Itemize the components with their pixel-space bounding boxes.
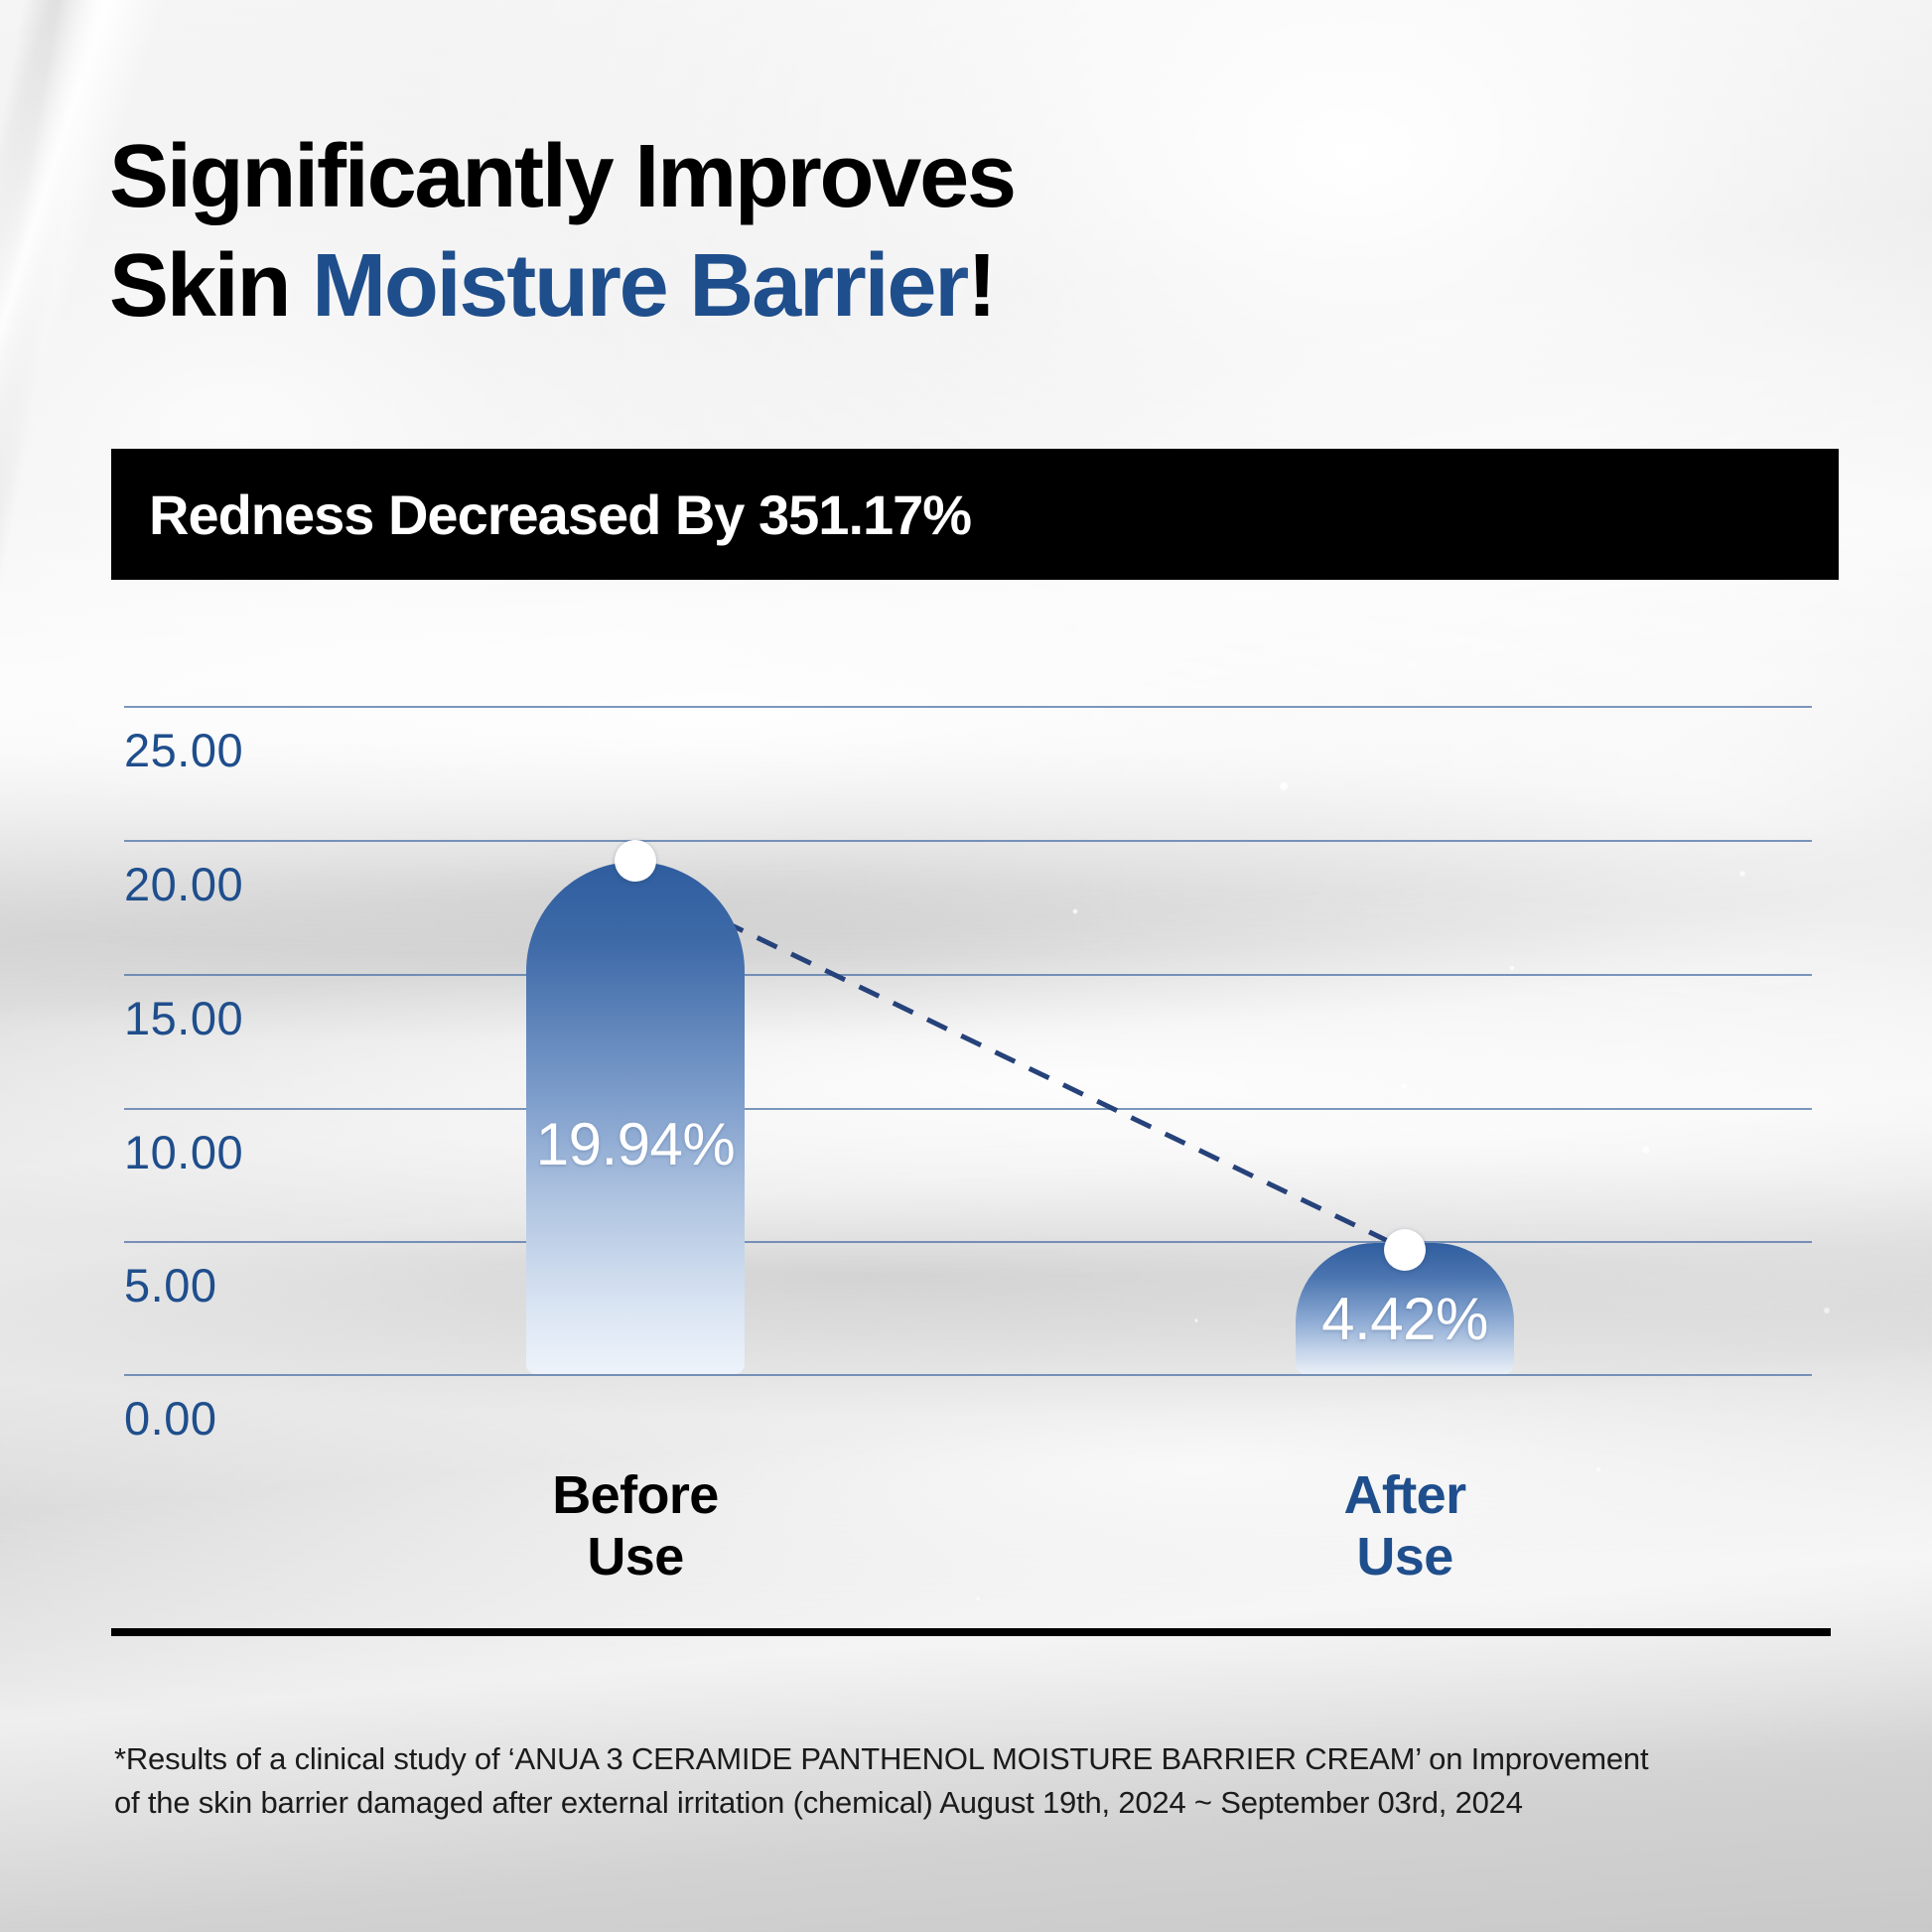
footnote: *Results of a clinical study of ‘ANUA 3 … — [114, 1737, 1832, 1825]
y-axis-tick-0: 0.00 — [124, 1391, 216, 1446]
bar-chart: 25.00 20.00 15.00 10.00 5.00 0.00 19.94%… — [0, 0, 1932, 1932]
x-axis-label-before-use: Before Use — [527, 1464, 744, 1587]
x-axis-label-after-use: After Use — [1297, 1464, 1513, 1587]
y-axis-tick-10: 10.00 — [124, 1125, 243, 1179]
y-axis-tick-15: 15.00 — [124, 991, 243, 1045]
gridline-5 — [124, 1241, 1812, 1243]
gridline-15 — [124, 974, 1812, 976]
gridline-0 — [124, 1374, 1812, 1376]
bar-before-use: 19.94% — [526, 862, 745, 1374]
bar-value-after-use: 4.42% — [1296, 1285, 1514, 1353]
footnote-line-1: *Results of a clinical study of ‘ANUA 3 … — [114, 1737, 1832, 1781]
connector-segment — [655, 889, 1388, 1241]
y-axis-tick-25: 25.00 — [124, 723, 243, 777]
y-axis-tick-5: 5.00 — [124, 1258, 216, 1312]
gridline-25 — [124, 706, 1812, 708]
data-point-marker-after-use — [1384, 1229, 1426, 1271]
dashed-connector-line — [0, 0, 1932, 1932]
data-point-marker-before-use — [615, 840, 656, 882]
y-axis-tick-20: 20.00 — [124, 857, 243, 911]
bar-value-before-use: 19.94% — [526, 1110, 745, 1178]
footnote-line-2: of the skin barrier damaged after extern… — [114, 1781, 1832, 1825]
section-divider — [111, 1628, 1831, 1636]
gridline-10 — [124, 1108, 1812, 1110]
gridline-20 — [124, 840, 1812, 842]
